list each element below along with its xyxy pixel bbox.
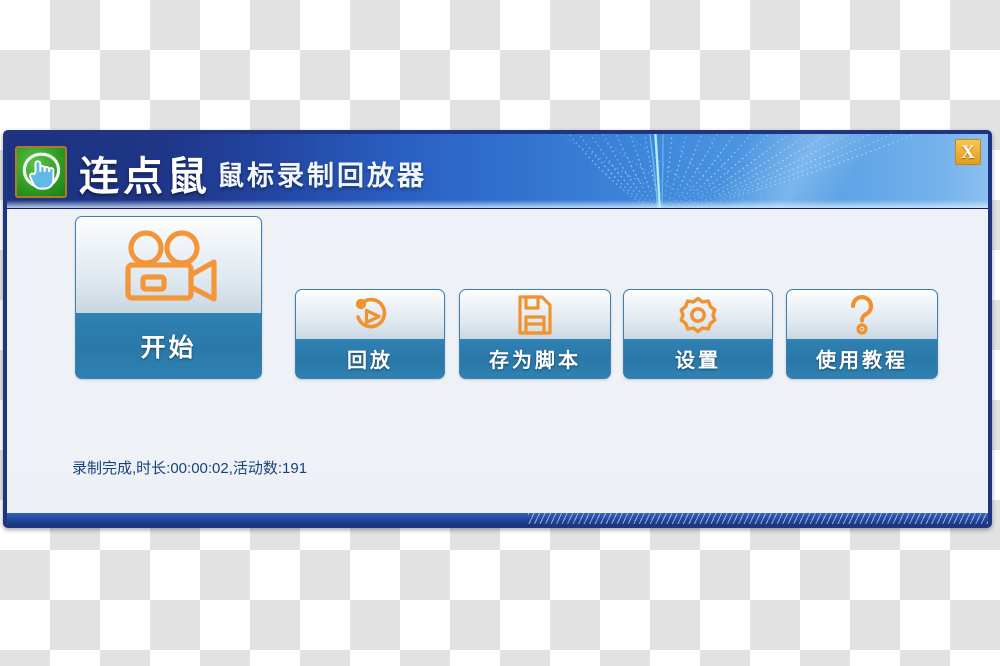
start-label-pane: 开始	[76, 313, 261, 378]
replay-circle-icon	[350, 295, 390, 335]
tutorial-label-pane: 使用教程	[787, 339, 937, 378]
app-logo	[15, 146, 67, 198]
settings-button[interactable]: 设置	[623, 289, 773, 379]
app-title: 连点鼠 鼠标录制回放器	[79, 144, 427, 202]
playback-button-label: 回放	[347, 344, 393, 373]
playback-icon-pane	[296, 290, 444, 341]
start-button-label: 开始	[140, 328, 196, 364]
floppy-save-icon	[517, 294, 553, 336]
save-script-button[interactable]: 存为脚本	[459, 289, 611, 379]
app-title-main: 连点鼠	[79, 144, 211, 202]
bottom-bar-hatch-pattern	[528, 513, 988, 525]
save-script-button-label: 存为脚本	[489, 344, 581, 373]
gear-icon	[678, 295, 718, 335]
close-icon: X	[961, 143, 975, 162]
settings-button-label: 设置	[675, 344, 721, 373]
video-camera-icon	[116, 229, 222, 303]
status-text: 录制完成,时长:00:00:02,活动数:191	[72, 457, 307, 478]
main-content: 开始 回放	[7, 209, 988, 525]
app-window: 连点鼠 鼠标录制回放器 X	[3, 130, 992, 528]
button-row: 开始 回放	[7, 209, 988, 449]
settings-icon-pane	[624, 290, 772, 341]
tutorial-button-label: 使用教程	[816, 344, 908, 373]
start-icon-pane	[76, 217, 261, 315]
start-button[interactable]: 开始	[75, 216, 262, 379]
tutorial-button[interactable]: 使用教程	[786, 289, 938, 379]
save-script-label-pane: 存为脚本	[460, 339, 610, 378]
playback-button[interactable]: 回放	[295, 289, 445, 379]
window-bottom-bar	[7, 513, 988, 525]
save-script-icon-pane	[460, 290, 610, 341]
title-bar: 连点鼠 鼠标录制回放器 X	[7, 134, 988, 209]
tutorial-icon-pane	[787, 290, 937, 341]
title-bar-sheen	[628, 134, 988, 208]
playback-label-pane: 回放	[296, 339, 444, 378]
question-mark-icon	[847, 294, 877, 336]
close-button[interactable]: X	[955, 139, 981, 165]
hand-click-icon	[17, 148, 65, 196]
app-title-sub: 鼠标录制回放器	[217, 154, 427, 193]
settings-label-pane: 设置	[624, 339, 772, 378]
